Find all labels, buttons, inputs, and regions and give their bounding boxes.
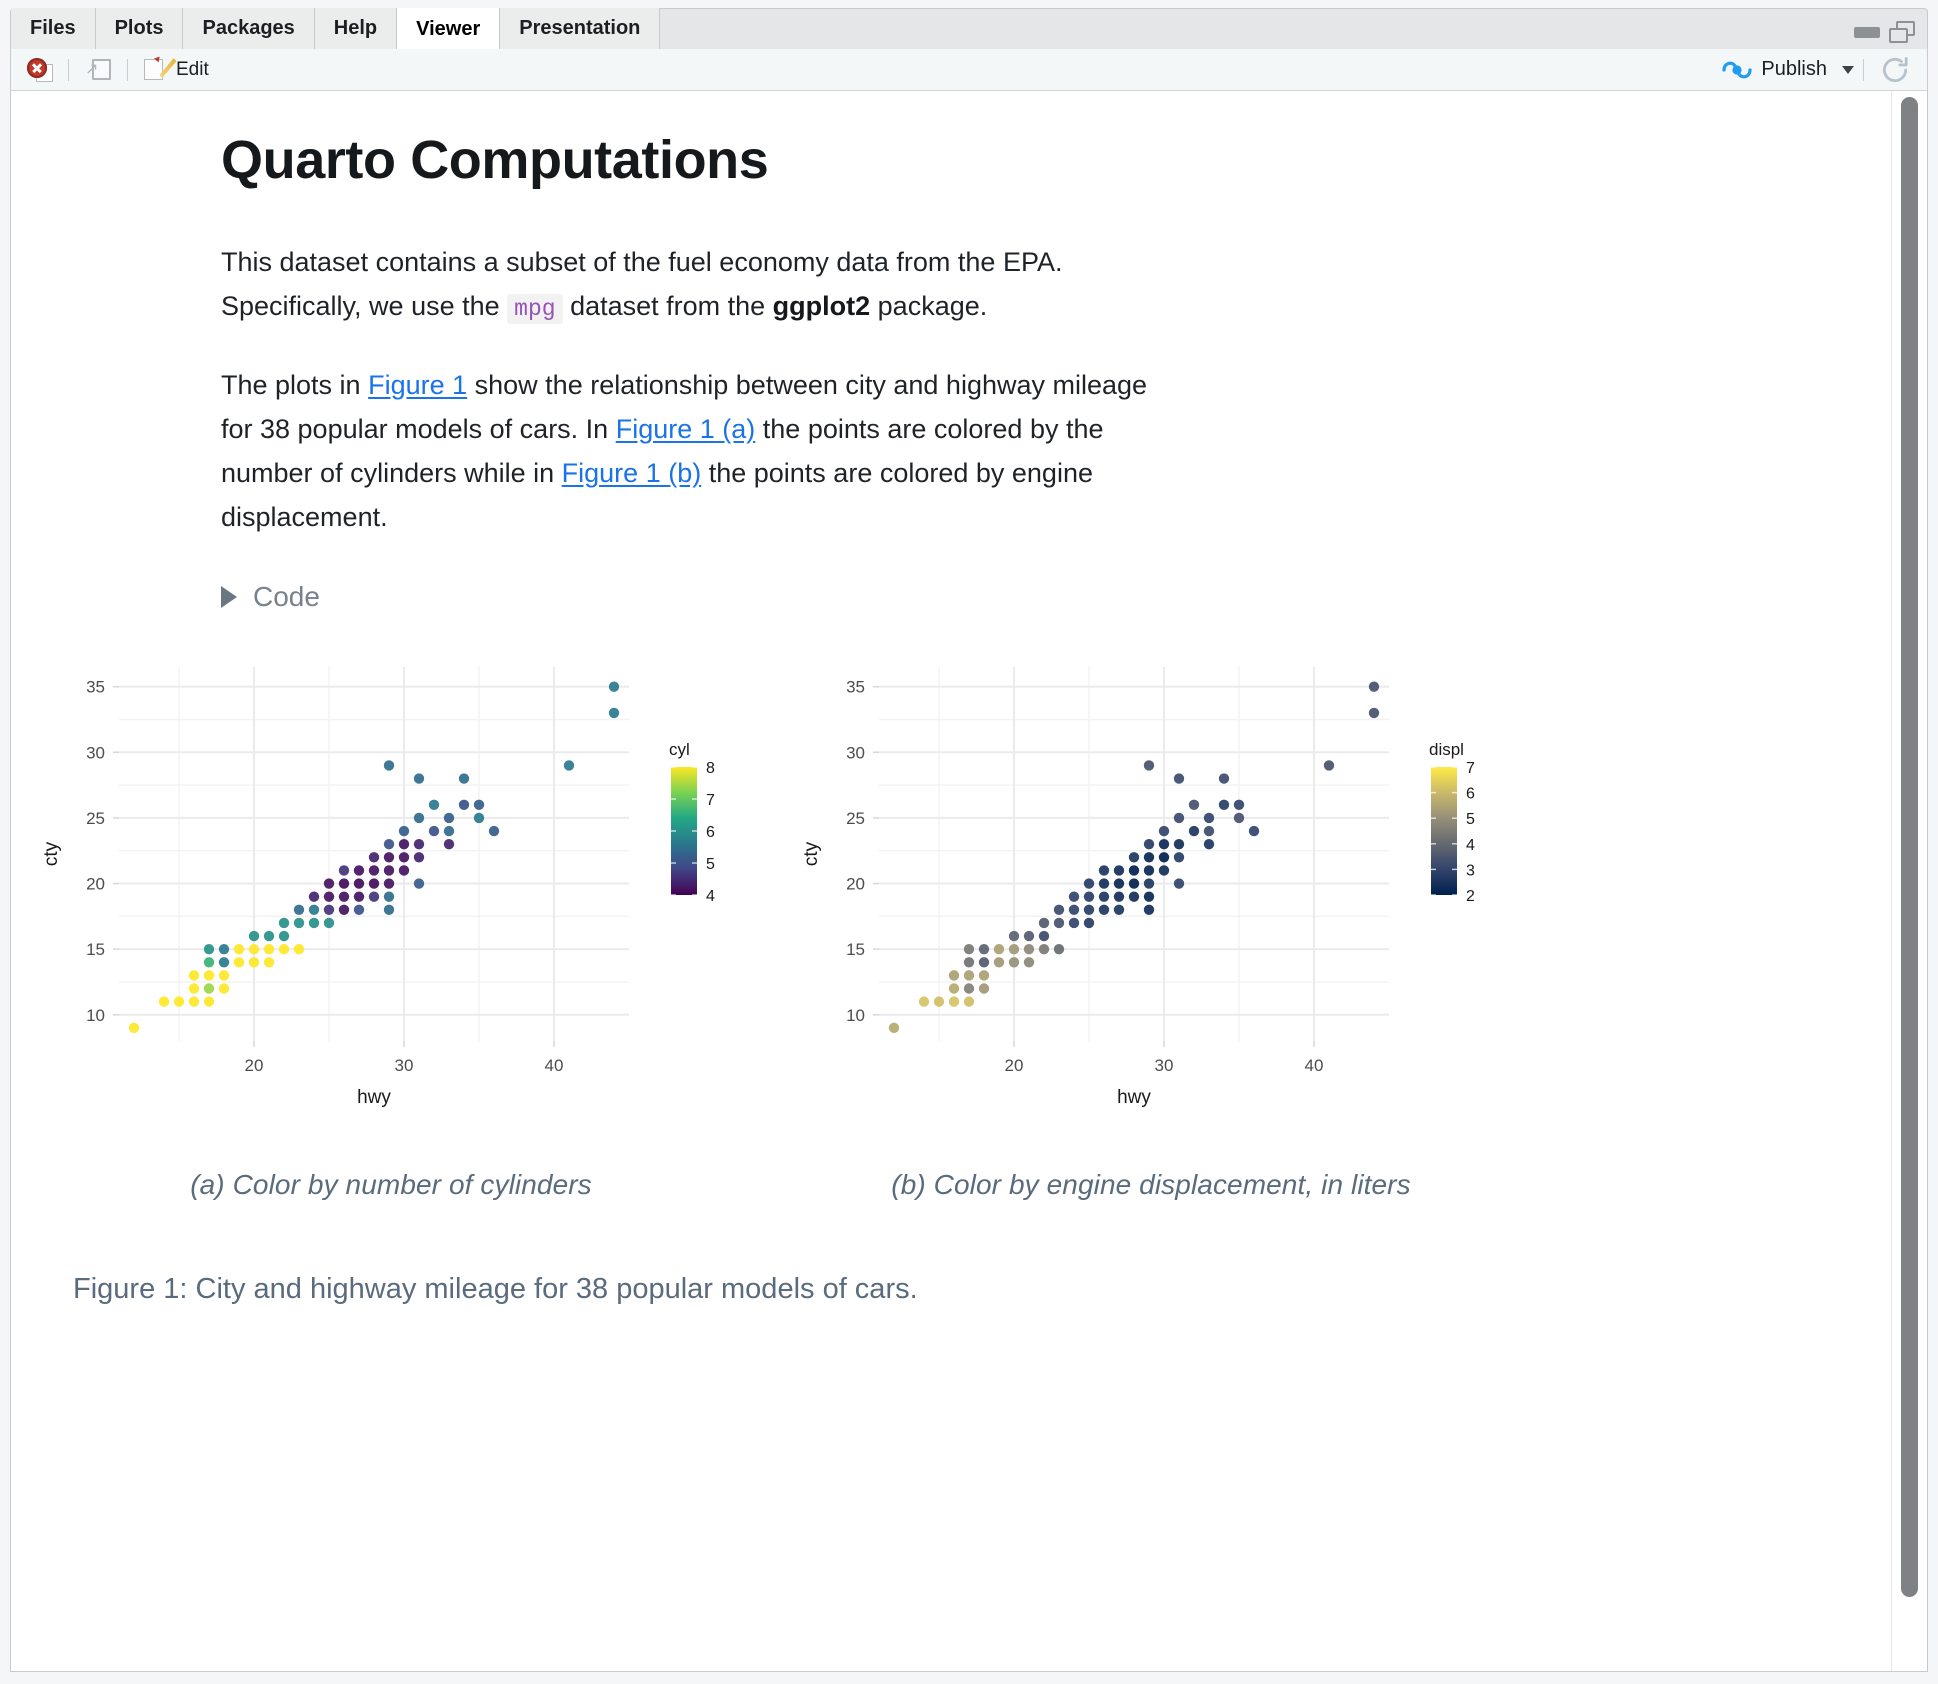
- publish-icon: [1722, 57, 1752, 83]
- show-in-new-window-button[interactable]: ↗: [78, 56, 118, 84]
- tab-help[interactable]: Help: [315, 8, 397, 49]
- refresh-icon: [1879, 54, 1911, 86]
- refresh-button[interactable]: [1873, 52, 1917, 88]
- svg-text:5: 5: [706, 856, 715, 873]
- svg-text:hwy: hwy: [1117, 1087, 1151, 1108]
- toolbar-separator: [68, 59, 69, 81]
- svg-text:7: 7: [1466, 760, 1475, 777]
- tab-plots[interactable]: Plots: [96, 8, 184, 49]
- scatter-plot-cyl: 101520253035203040hwyctycyl45678: [11, 641, 771, 1121]
- tab-label: Files: [30, 17, 76, 40]
- code-disclosure-toggle[interactable]: Code: [11, 539, 1891, 613]
- svg-text:2: 2: [1466, 888, 1475, 905]
- link-figure-1[interactable]: Figure 1: [368, 370, 467, 400]
- svg-text:30: 30: [846, 744, 865, 763]
- svg-text:6: 6: [706, 824, 715, 841]
- edit-icon: [143, 58, 169, 82]
- tab-viewer[interactable]: Viewer: [397, 8, 500, 50]
- scatter-plot-displ: 101520253035203040hwyctydispl234567: [771, 641, 1531, 1121]
- svg-text:15: 15: [846, 941, 865, 960]
- figure-1: 101520253035203040hwyctycyl45678 (a) Col…: [11, 613, 1891, 1306]
- description-paragraph: The plots in Figure 1 show the relations…: [11, 328, 1371, 539]
- svg-text:30: 30: [1155, 1056, 1174, 1075]
- link-figure-1a[interactable]: Figure 1 (a): [616, 414, 756, 444]
- svg-text:4: 4: [706, 888, 715, 905]
- tab-label: Viewer: [416, 18, 480, 41]
- svg-text:7: 7: [706, 792, 715, 809]
- strong-ggplot2: ggplot2: [773, 291, 870, 321]
- tab-label: Presentation: [519, 17, 640, 40]
- viewer-content: Quarto Computations This dataset contain…: [10, 91, 1928, 1672]
- scrollbar-thumb[interactable]: [1901, 97, 1918, 1597]
- subcaption-a: (a) Color by number of cylinders: [11, 1121, 771, 1201]
- svg-text:15: 15: [86, 941, 105, 960]
- svg-text:3: 3: [1466, 863, 1475, 880]
- show-in-new-window-icon: ↗: [84, 58, 112, 82]
- svg-text:displ: displ: [1429, 740, 1464, 759]
- svg-text:35: 35: [846, 678, 865, 697]
- publish-button[interactable]: Publish: [1722, 57, 1854, 83]
- figure-caption: Figure 1: City and highway mileage for 3…: [11, 1201, 1891, 1306]
- svg-text:20: 20: [1005, 1056, 1024, 1075]
- svg-text:30: 30: [86, 744, 105, 763]
- tab-packages[interactable]: Packages: [183, 8, 314, 49]
- triangle-right-icon: [221, 586, 237, 608]
- intro-text-part3: package.: [870, 291, 987, 321]
- tab-label: Help: [334, 17, 377, 40]
- svg-text:40: 40: [1305, 1056, 1324, 1075]
- svg-text:cty: cty: [41, 842, 62, 867]
- svg-text:6: 6: [1466, 786, 1475, 803]
- page-title: Quarto Computations: [11, 91, 1891, 191]
- tab-files[interactable]: Files: [11, 8, 96, 49]
- toolbar-separator: [1863, 59, 1864, 81]
- svg-text:20: 20: [245, 1056, 264, 1075]
- chevron-down-icon[interactable]: [1842, 66, 1854, 74]
- tab-label: Packages: [202, 17, 294, 40]
- svg-text:10: 10: [86, 1006, 105, 1025]
- svg-text:10: 10: [846, 1006, 865, 1025]
- figure-panels: 101520253035203040hwyctycyl45678 (a) Col…: [11, 641, 1891, 1201]
- svg-text:hwy: hwy: [357, 1087, 391, 1108]
- svg-text:20: 20: [86, 875, 105, 894]
- plot-canvas-a: 101520253035203040hwyctycyl45678: [11, 641, 771, 1121]
- svg-text:35: 35: [86, 678, 105, 697]
- svg-text:25: 25: [86, 809, 105, 828]
- code-disclosure-label: Code: [253, 581, 320, 613]
- inline-code-mpg: mpg: [507, 294, 562, 324]
- svg-text:40: 40: [545, 1056, 564, 1075]
- tab-presentation[interactable]: Presentation: [500, 8, 660, 49]
- rstudio-viewer-pane: Files Plots Packages Help Viewer Present…: [0, 0, 1938, 1684]
- link-figure-1b[interactable]: Figure 1 (b): [562, 458, 702, 488]
- svg-text:5: 5: [1466, 812, 1475, 829]
- figure-panel-a: 101520253035203040hwyctycyl45678 (a) Col…: [11, 641, 771, 1201]
- desc-text-part1: The plots in: [221, 370, 368, 400]
- stop-icon: [27, 58, 53, 82]
- svg-text:25: 25: [846, 809, 865, 828]
- figure-panel-b: 101520253035203040hwyctydispl234567 (b) …: [771, 641, 1531, 1201]
- publish-label: Publish: [1761, 58, 1827, 81]
- subcaption-b: (b) Color by engine displacement, in lit…: [771, 1121, 1531, 1201]
- intro-paragraph: This dataset contains a subset of the fu…: [11, 191, 1371, 328]
- vertical-scrollbar[interactable]: [1891, 91, 1927, 1671]
- svg-text:cyl: cyl: [669, 740, 690, 759]
- svg-text:30: 30: [395, 1056, 414, 1075]
- intro-text-part2: dataset from the: [563, 291, 773, 321]
- svg-text:20: 20: [846, 875, 865, 894]
- toolbar-right-group: Publish: [1722, 52, 1917, 88]
- svg-text:8: 8: [706, 760, 715, 777]
- stop-button[interactable]: [21, 56, 59, 84]
- quarto-document: Quarto Computations This dataset contain…: [11, 91, 1891, 1671]
- svg-text:cty: cty: [801, 842, 822, 867]
- viewer-toolbar: ↗ Edit Publish: [10, 49, 1928, 91]
- minimize-icon[interactable]: [1854, 27, 1880, 38]
- window-controls: [1854, 21, 1927, 49]
- edit-button[interactable]: Edit: [137, 56, 215, 84]
- pane-tabstrip: Files Plots Packages Help Viewer Present…: [10, 8, 1928, 50]
- svg-text:4: 4: [1466, 837, 1475, 854]
- plot-canvas-b: 101520253035203040hwyctydispl234567: [771, 641, 1531, 1121]
- toolbar-separator: [127, 59, 128, 81]
- maximize-icon[interactable]: [1889, 21, 1915, 43]
- edit-button-label: Edit: [176, 59, 209, 81]
- tab-label: Plots: [115, 17, 164, 40]
